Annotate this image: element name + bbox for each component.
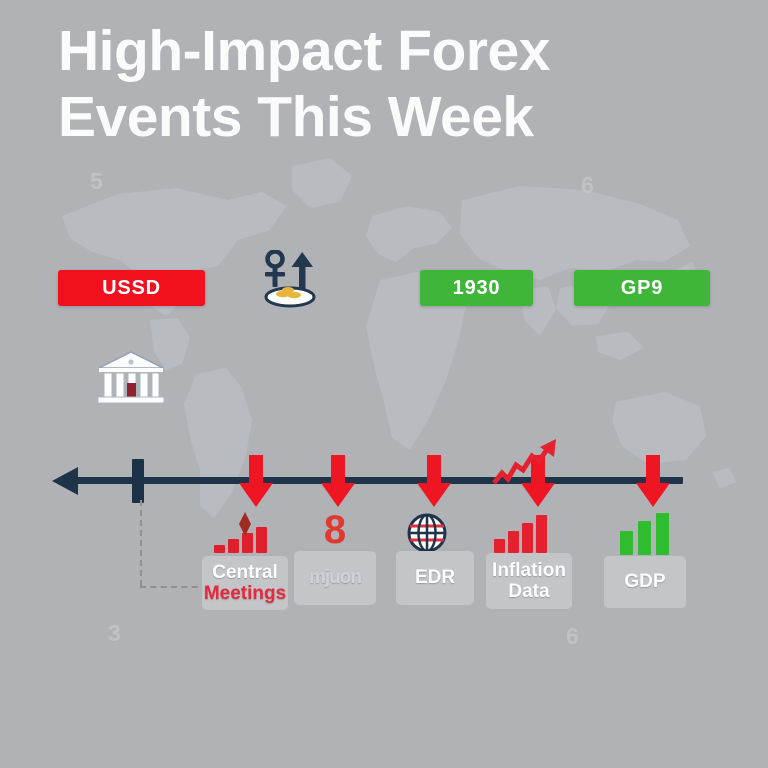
event-card-label: Central Meetings xyxy=(204,562,286,605)
svg-text:8: 8 xyxy=(324,508,346,550)
page-title-line-2: Events This Week xyxy=(58,84,718,150)
currency-badge-gp9[interactable]: GP9 xyxy=(574,270,710,306)
currency-rise-icon xyxy=(258,250,322,316)
ghost-number: 6 xyxy=(581,172,594,199)
bank-building-icon xyxy=(97,350,165,408)
event-card-central-meetings[interactable]: Central Meetings xyxy=(202,556,288,610)
event-card-title: GDP xyxy=(624,571,665,592)
timeline-marker-arrow-2[interactable] xyxy=(316,455,360,507)
timeline-marker-arrow-1[interactable] xyxy=(234,455,278,507)
currency-badge-label: GP9 xyxy=(621,277,663,300)
event-card-subtitle: Meetings xyxy=(204,583,286,604)
red-bar-chart-icon xyxy=(494,515,547,553)
ghost-number: 3 xyxy=(108,620,121,647)
timeline-axis xyxy=(74,477,683,484)
page-title-line-1: High-Impact Forex xyxy=(58,18,718,84)
event-card-label: EDR xyxy=(415,567,455,588)
connector-dashed-vertical xyxy=(140,500,142,586)
red-up-marker-icon xyxy=(236,512,254,536)
currency-badge-1930[interactable]: 1930 xyxy=(420,270,533,306)
event-card-label: mjuon xyxy=(309,567,361,588)
currency-badge-label: 1930 xyxy=(453,277,501,300)
timeline-tick-navy[interactable] xyxy=(132,459,144,503)
currency-badge-ussd[interactable]: USSD xyxy=(58,270,205,306)
globe-icon xyxy=(406,512,448,554)
currency-badge-label: USSD xyxy=(102,277,161,300)
connector-dashed-horizontal xyxy=(140,586,208,588)
event-card-gdp[interactable]: GDP xyxy=(604,556,686,608)
green-bar-chart-icon xyxy=(620,513,669,555)
timeline-marker-arrow-5[interactable] xyxy=(631,455,675,507)
page-title: High-Impact Forex Events This Week xyxy=(58,18,718,150)
rising-zigzag-arrow-icon xyxy=(490,437,562,489)
red-eight-glyph-icon: 8 xyxy=(320,508,350,550)
timeline-marker-arrow-3[interactable] xyxy=(412,455,456,507)
event-card-title: EDR xyxy=(415,567,455,588)
event-card-edr[interactable]: EDR xyxy=(396,551,474,605)
event-card-subtitle: Data xyxy=(492,581,566,602)
event-card-label: GDP xyxy=(624,571,665,592)
event-card-title: Inflation xyxy=(492,560,566,581)
event-card-garbled[interactable]: mjuon xyxy=(294,551,376,605)
event-card-label: Inflation Data xyxy=(492,560,566,603)
ghost-number: 6 xyxy=(566,623,579,650)
event-card-title: mjuon xyxy=(309,567,361,588)
event-card-title: Central xyxy=(212,562,277,583)
event-card-inflation-data[interactable]: Inflation Data xyxy=(486,553,572,609)
infographic-canvas: 5 6 3 6 High-Impact Forex Events This We… xyxy=(0,0,768,768)
ghost-number: 5 xyxy=(90,168,103,195)
